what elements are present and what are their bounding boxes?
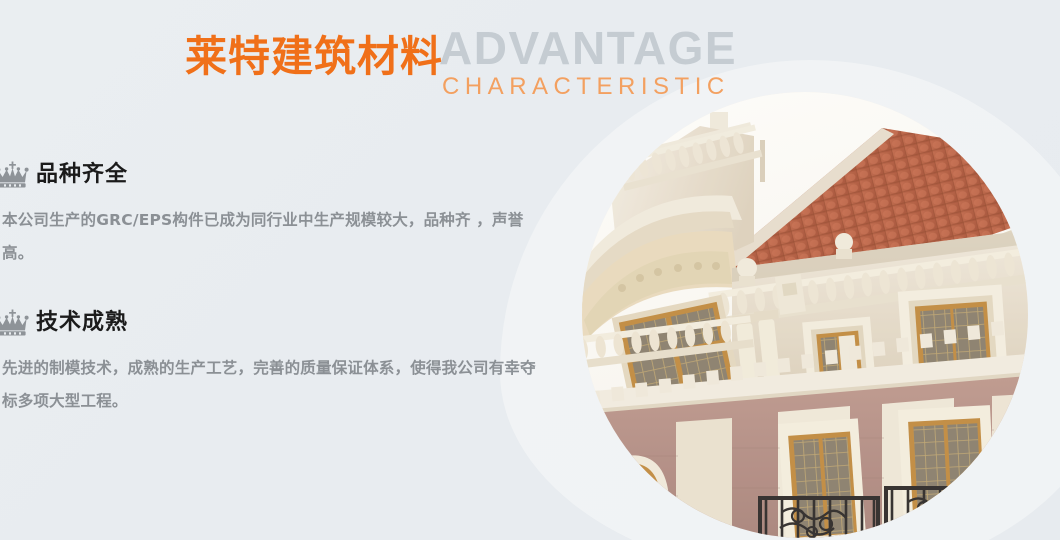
banner-header: 莱特建筑材料 ADVANTAGE CHARACTERISTIC bbox=[185, 30, 737, 122]
feature-heading: 品种齐全 bbox=[0, 160, 560, 190]
page-title-cn: 莱特建筑材料 bbox=[185, 36, 443, 78]
feature-title: 品种齐全 bbox=[36, 164, 128, 186]
crown-icon bbox=[0, 161, 30, 189]
building-photo bbox=[582, 92, 1028, 538]
feature-body: 本公司生产的GRC/EPS构件已成为同行业中生产规模较大，品种齐 ，声誉高。 bbox=[0, 204, 550, 270]
building-photo-illustration bbox=[582, 92, 1028, 538]
feature-item: 品种齐全 本公司生产的GRC/EPS构件已成为同行业中生产规模较大，品种齐 ，声… bbox=[0, 160, 560, 270]
advantage-banner: 莱特建筑材料 ADVANTAGE CHARACTERISTIC bbox=[0, 0, 1060, 540]
feature-heading: 技术成熟 bbox=[0, 308, 560, 338]
page-subtitle-en: CHARACTERISTIC bbox=[442, 73, 737, 102]
crown-icon bbox=[0, 309, 30, 337]
page-title-en: ADVANTAGE bbox=[439, 26, 737, 71]
feature-body: 先进的制模技术，成熟的生产工艺，完善的质量保证体系，使得我公司有幸夺标多项大型工… bbox=[0, 352, 550, 418]
feature-list: 品种齐全 本公司生产的GRC/EPS构件已成为同行业中生产规模较大，品种齐 ，声… bbox=[0, 160, 560, 456]
feature-title: 技术成熟 bbox=[36, 312, 128, 334]
feature-item: 技术成熟 先进的制模技术，成熟的生产工艺，完善的质量保证体系，使得我公司有幸夺标… bbox=[0, 308, 560, 418]
